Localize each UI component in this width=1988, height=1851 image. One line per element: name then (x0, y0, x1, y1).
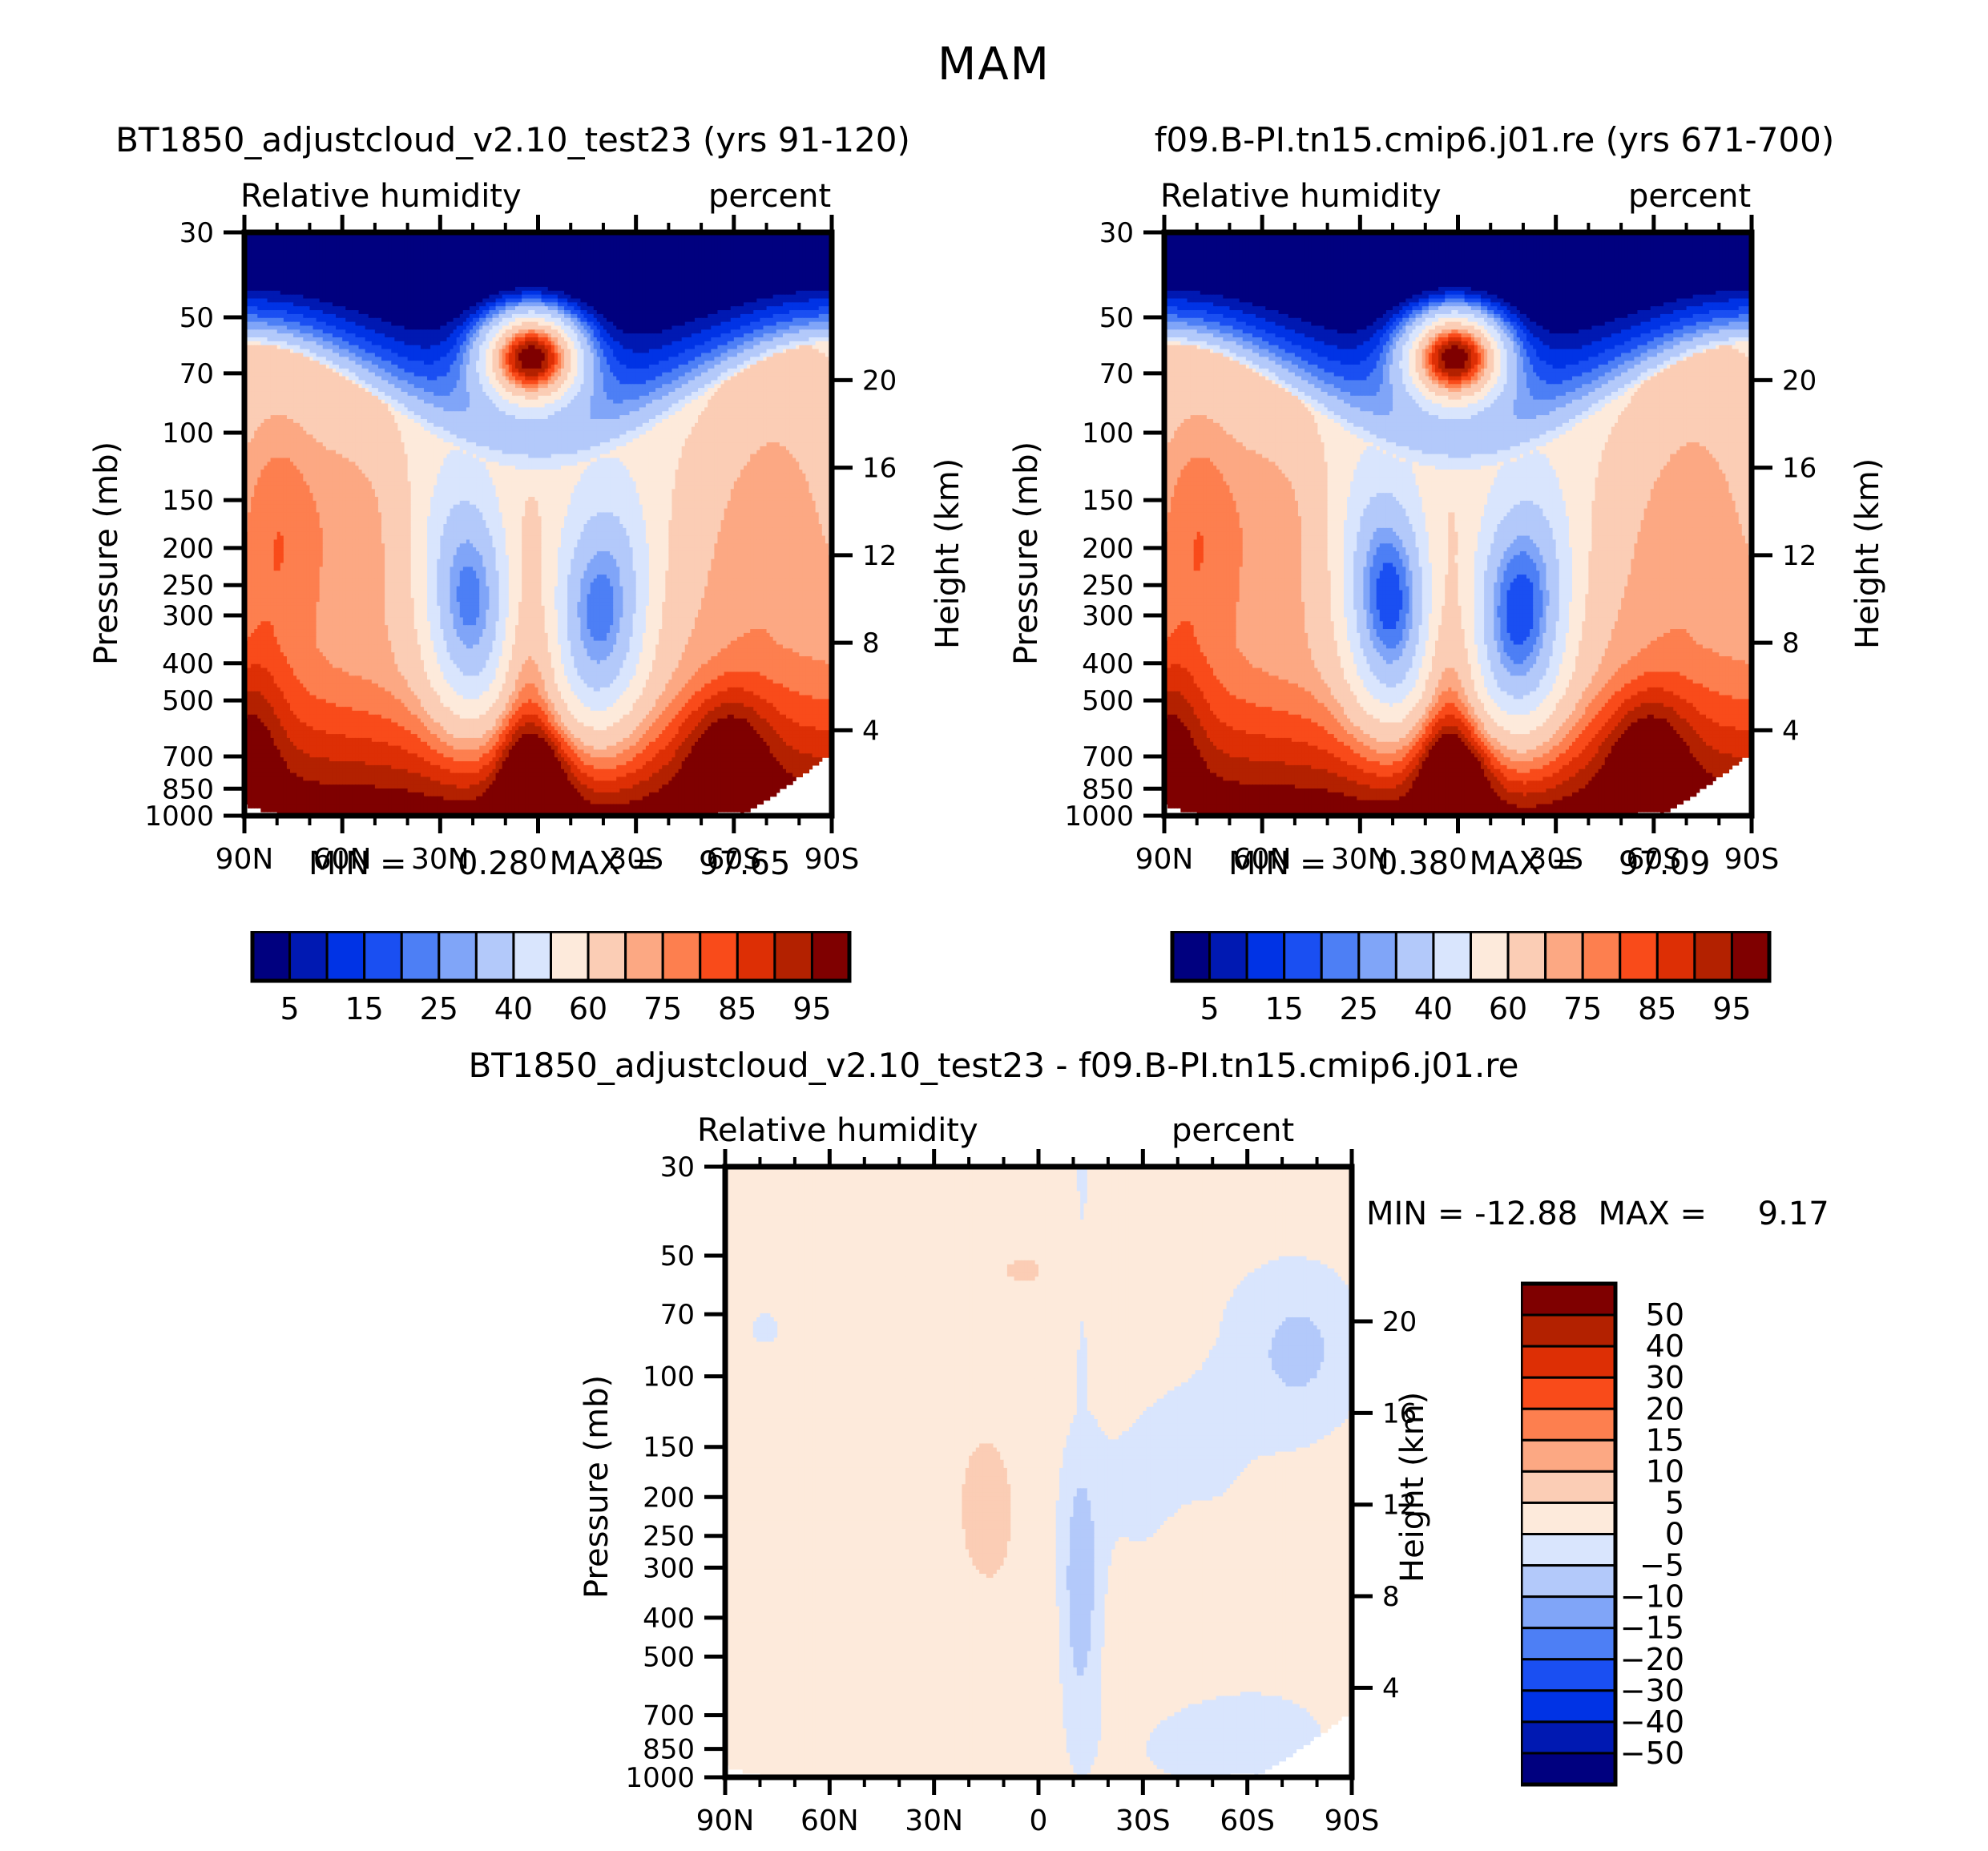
contour-plot-diff: 3050701001502002503004005007008501000201… (589, 1144, 1424, 1851)
panel-title-diff: BT1850_adjustcloud_v2.10_test23 - f09.B-… (393, 1046, 1595, 1085)
colorbar-vertical-diff[interactable]: 50403020151050−5−10−15−20−30−40−50 (1521, 1277, 1768, 1794)
colorbar-horizontal-right[interactable]: 515254060758595 (1156, 931, 1785, 1045)
minmax-diff: MIN = -12.88 MAX = 9.17 (1366, 1196, 1829, 1232)
contour-plot-left: 3050701001502002503004005007008501000201… (108, 210, 904, 889)
y2-axis-title-right: Height (km) (1849, 458, 1886, 649)
colorbar-horizontal-left[interactable]: 515254060758595 (236, 931, 865, 1045)
panel-title-left: BT1850_adjustcloud_v2.10_test23 (yrs 91-… (48, 120, 978, 159)
panel-title-right: f09.B-PI.tn15.cmip6.j01.re (yrs 671-700) (1030, 120, 1959, 159)
minmax-right: MIN = 0.38 MAX = 97.09 (1228, 845, 1710, 882)
minmax-left: MIN = 0.28 MAX = 97.65 (308, 845, 790, 882)
season-title: MAM (0, 38, 1988, 91)
contour-plot-right: 3050701001502002503004005007008501000201… (1028, 210, 1824, 889)
y2-axis-title-left: Height (km) (929, 458, 966, 649)
